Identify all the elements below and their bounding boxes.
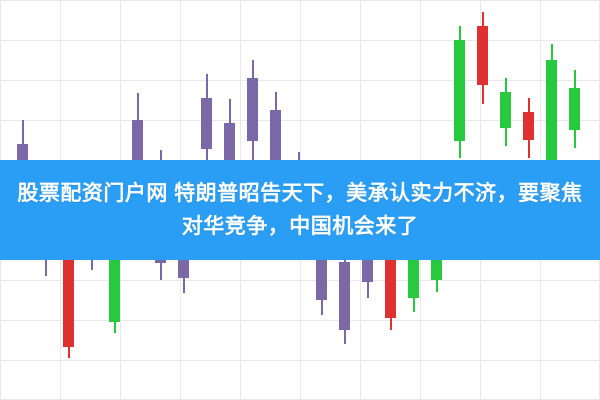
candlestick-body — [546, 60, 557, 160]
headline-banner: 股票配资门户网 特朗普昭告天下，美承认实力不济，要聚焦对华竞争，中国机会来了 — [0, 160, 600, 260]
candlestick — [454, 26, 465, 158]
candlestick — [201, 74, 212, 169]
candlestick — [546, 44, 557, 176]
candlestick-body — [201, 98, 212, 149]
candlestick — [500, 78, 511, 146]
candlestick — [569, 70, 580, 148]
candlestick-body — [408, 258, 419, 298]
candlestick-body — [454, 40, 465, 141]
candlestick-body — [385, 258, 396, 318]
headline-text: 股票配资门户网 特朗普昭告天下，美承认实力不济，要聚焦对华竞争，中国机会来了 — [14, 177, 586, 243]
candlestick-body — [569, 88, 580, 130]
candlestick-body — [247, 78, 258, 141]
candlestick — [477, 12, 488, 104]
candlestick-body — [477, 26, 488, 85]
candlestick — [339, 246, 350, 344]
candlestick-body — [523, 112, 534, 140]
candlestick — [523, 98, 534, 158]
candlestick — [247, 60, 258, 160]
candlestick-body — [500, 92, 511, 128]
candlestick-body — [339, 262, 350, 330]
chart-screenshot: 股票配资门户网 特朗普昭告天下，美承认实力不济，要聚焦对华竞争，中国机会来了 — [0, 0, 600, 400]
